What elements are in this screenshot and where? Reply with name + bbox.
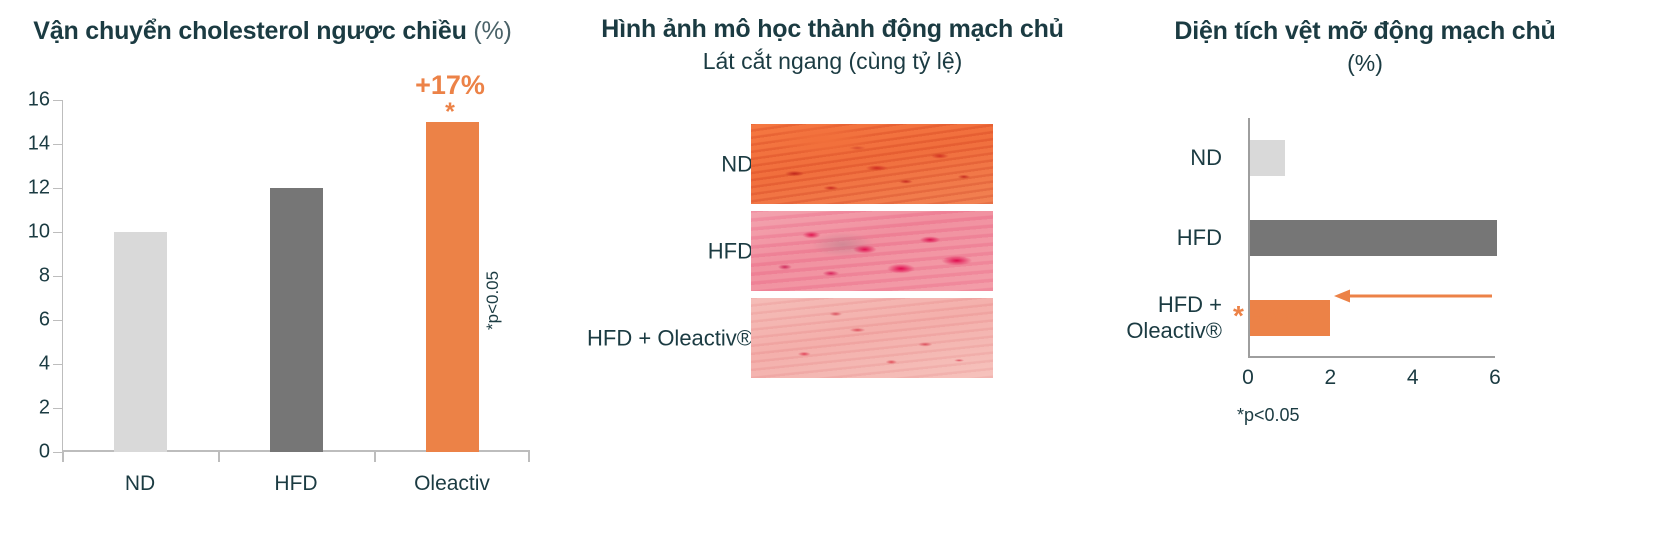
left-panel-title: Vận chuyển cholesterol ngược chiều (%) bbox=[0, 18, 545, 46]
left-y-tick-mark bbox=[53, 100, 62, 101]
left-y-tick-mark bbox=[53, 144, 62, 145]
left-y-tick-mark bbox=[53, 232, 62, 233]
left-y-tick-label: 8 bbox=[10, 265, 50, 288]
histology-row: HFD bbox=[560, 211, 1105, 291]
right-x-tick-label: 0 bbox=[1242, 366, 1254, 390]
left-title-unit: (%) bbox=[473, 17, 511, 45]
histology-hfd bbox=[751, 211, 993, 291]
figure-root: Vận chuyển cholesterol ngược chiều (%) 0… bbox=[0, 0, 1675, 533]
left-x-tick-label: Oleactiv bbox=[414, 472, 490, 496]
middle-panel-title-wrap: Hình ảnh mô học thành động mạch chủ Lát … bbox=[560, 16, 1105, 74]
histology-row-label: ND bbox=[721, 151, 753, 176]
right-x-tick-label: 6 bbox=[1489, 366, 1501, 390]
histology-row-label: HFD bbox=[708, 238, 753, 263]
right-x-axis-labels: 0246 bbox=[1248, 358, 1508, 394]
right-title: Diện tích vệt mỡ động mạch chủ bbox=[1105, 18, 1625, 46]
left-y-tick-mark bbox=[53, 188, 62, 189]
left-x-tick-mark bbox=[62, 452, 64, 462]
left-y-tick-mark bbox=[53, 452, 62, 453]
histology-row-label: HFD + Oleactiv® bbox=[587, 325, 753, 350]
right-category-label: HFD bbox=[1177, 225, 1222, 251]
right-panel-title-wrap: Diện tích vệt mỡ động mạch chủ (%) bbox=[1105, 18, 1625, 76]
right-p-value-note: *p<0.05 bbox=[1237, 405, 1300, 426]
left-bar-hfd: HFD bbox=[270, 188, 323, 452]
left-y-tick-label: 16 bbox=[10, 89, 50, 112]
left-y-tick-label: 14 bbox=[10, 133, 50, 156]
left-p-value-note: *p<0.05 bbox=[483, 271, 503, 330]
left-y-tick-label: 10 bbox=[10, 221, 50, 244]
left-y-tick-mark bbox=[53, 276, 62, 277]
right-x-tick-label: 4 bbox=[1407, 366, 1419, 390]
left-x-tick-label: ND bbox=[125, 472, 155, 496]
middle-subtitle: Lát cắt ngang (cùng tỷ lệ) bbox=[560, 48, 1105, 74]
left-delta-label: +17% bbox=[395, 70, 505, 101]
left-x-tick-mark bbox=[528, 452, 530, 462]
histology-nd bbox=[751, 124, 993, 204]
left-y-tick-label: 2 bbox=[10, 397, 50, 420]
right-bar-nd: ND bbox=[1250, 140, 1285, 176]
decrease-arrow-icon bbox=[1330, 288, 1493, 304]
left-x-tick-label: HFD bbox=[274, 472, 317, 496]
left-bar-nd: ND bbox=[114, 232, 167, 452]
left-y-axis-labels: 0246810121416 bbox=[6, 100, 50, 452]
middle-title: Hình ảnh mô học thành động mạch chủ bbox=[560, 16, 1105, 44]
histology-rows: NDHFDHFD + Oleactiv® bbox=[560, 124, 1105, 385]
histology-row: HFD + Oleactiv® bbox=[560, 298, 1105, 378]
panel-aortic-histology: Hình ảnh mô học thành động mạch chủ Lát … bbox=[560, 0, 1105, 533]
left-x-tick-mark bbox=[374, 452, 376, 462]
right-delta-label: * -69% bbox=[1233, 300, 1317, 332]
right-category-label: HFD +Oleactiv® bbox=[1126, 292, 1222, 344]
left-y-tick-mark bbox=[53, 320, 62, 321]
right-x-tick-label: 2 bbox=[1324, 366, 1336, 390]
left-title-main: Vận chuyển cholesterol ngược chiều bbox=[33, 17, 466, 45]
panel-aortic-fatty-streak-area: Diện tích vệt mỡ động mạch chủ (%) NDHFD… bbox=[1105, 0, 1675, 533]
right-subtitle: (%) bbox=[1105, 50, 1625, 76]
left-y-tick-mark bbox=[53, 364, 62, 365]
left-y-axis-line bbox=[62, 100, 63, 452]
left-y-tick-label: 12 bbox=[10, 177, 50, 200]
left-y-tick-label: 0 bbox=[10, 441, 50, 464]
histology-row: ND bbox=[560, 124, 1105, 204]
left-x-tick-mark bbox=[218, 452, 220, 462]
histology-hfd-oleactiv bbox=[751, 298, 993, 378]
left-plot-area: NDHFDOleactiv bbox=[62, 100, 530, 452]
left-y-tick-label: 4 bbox=[10, 353, 50, 376]
left-significance-star: * bbox=[395, 100, 505, 125]
right-category-label: ND bbox=[1190, 145, 1222, 171]
left-y-tick-label: 6 bbox=[10, 309, 50, 332]
panel-reverse-cholesterol-transport: Vận chuyển cholesterol ngược chiều (%) 0… bbox=[0, 0, 560, 533]
right-bar-hfd: HFD bbox=[1250, 220, 1497, 256]
left-bar-oleactiv: Oleactiv bbox=[426, 122, 479, 452]
left-y-tick-mark bbox=[53, 408, 62, 409]
